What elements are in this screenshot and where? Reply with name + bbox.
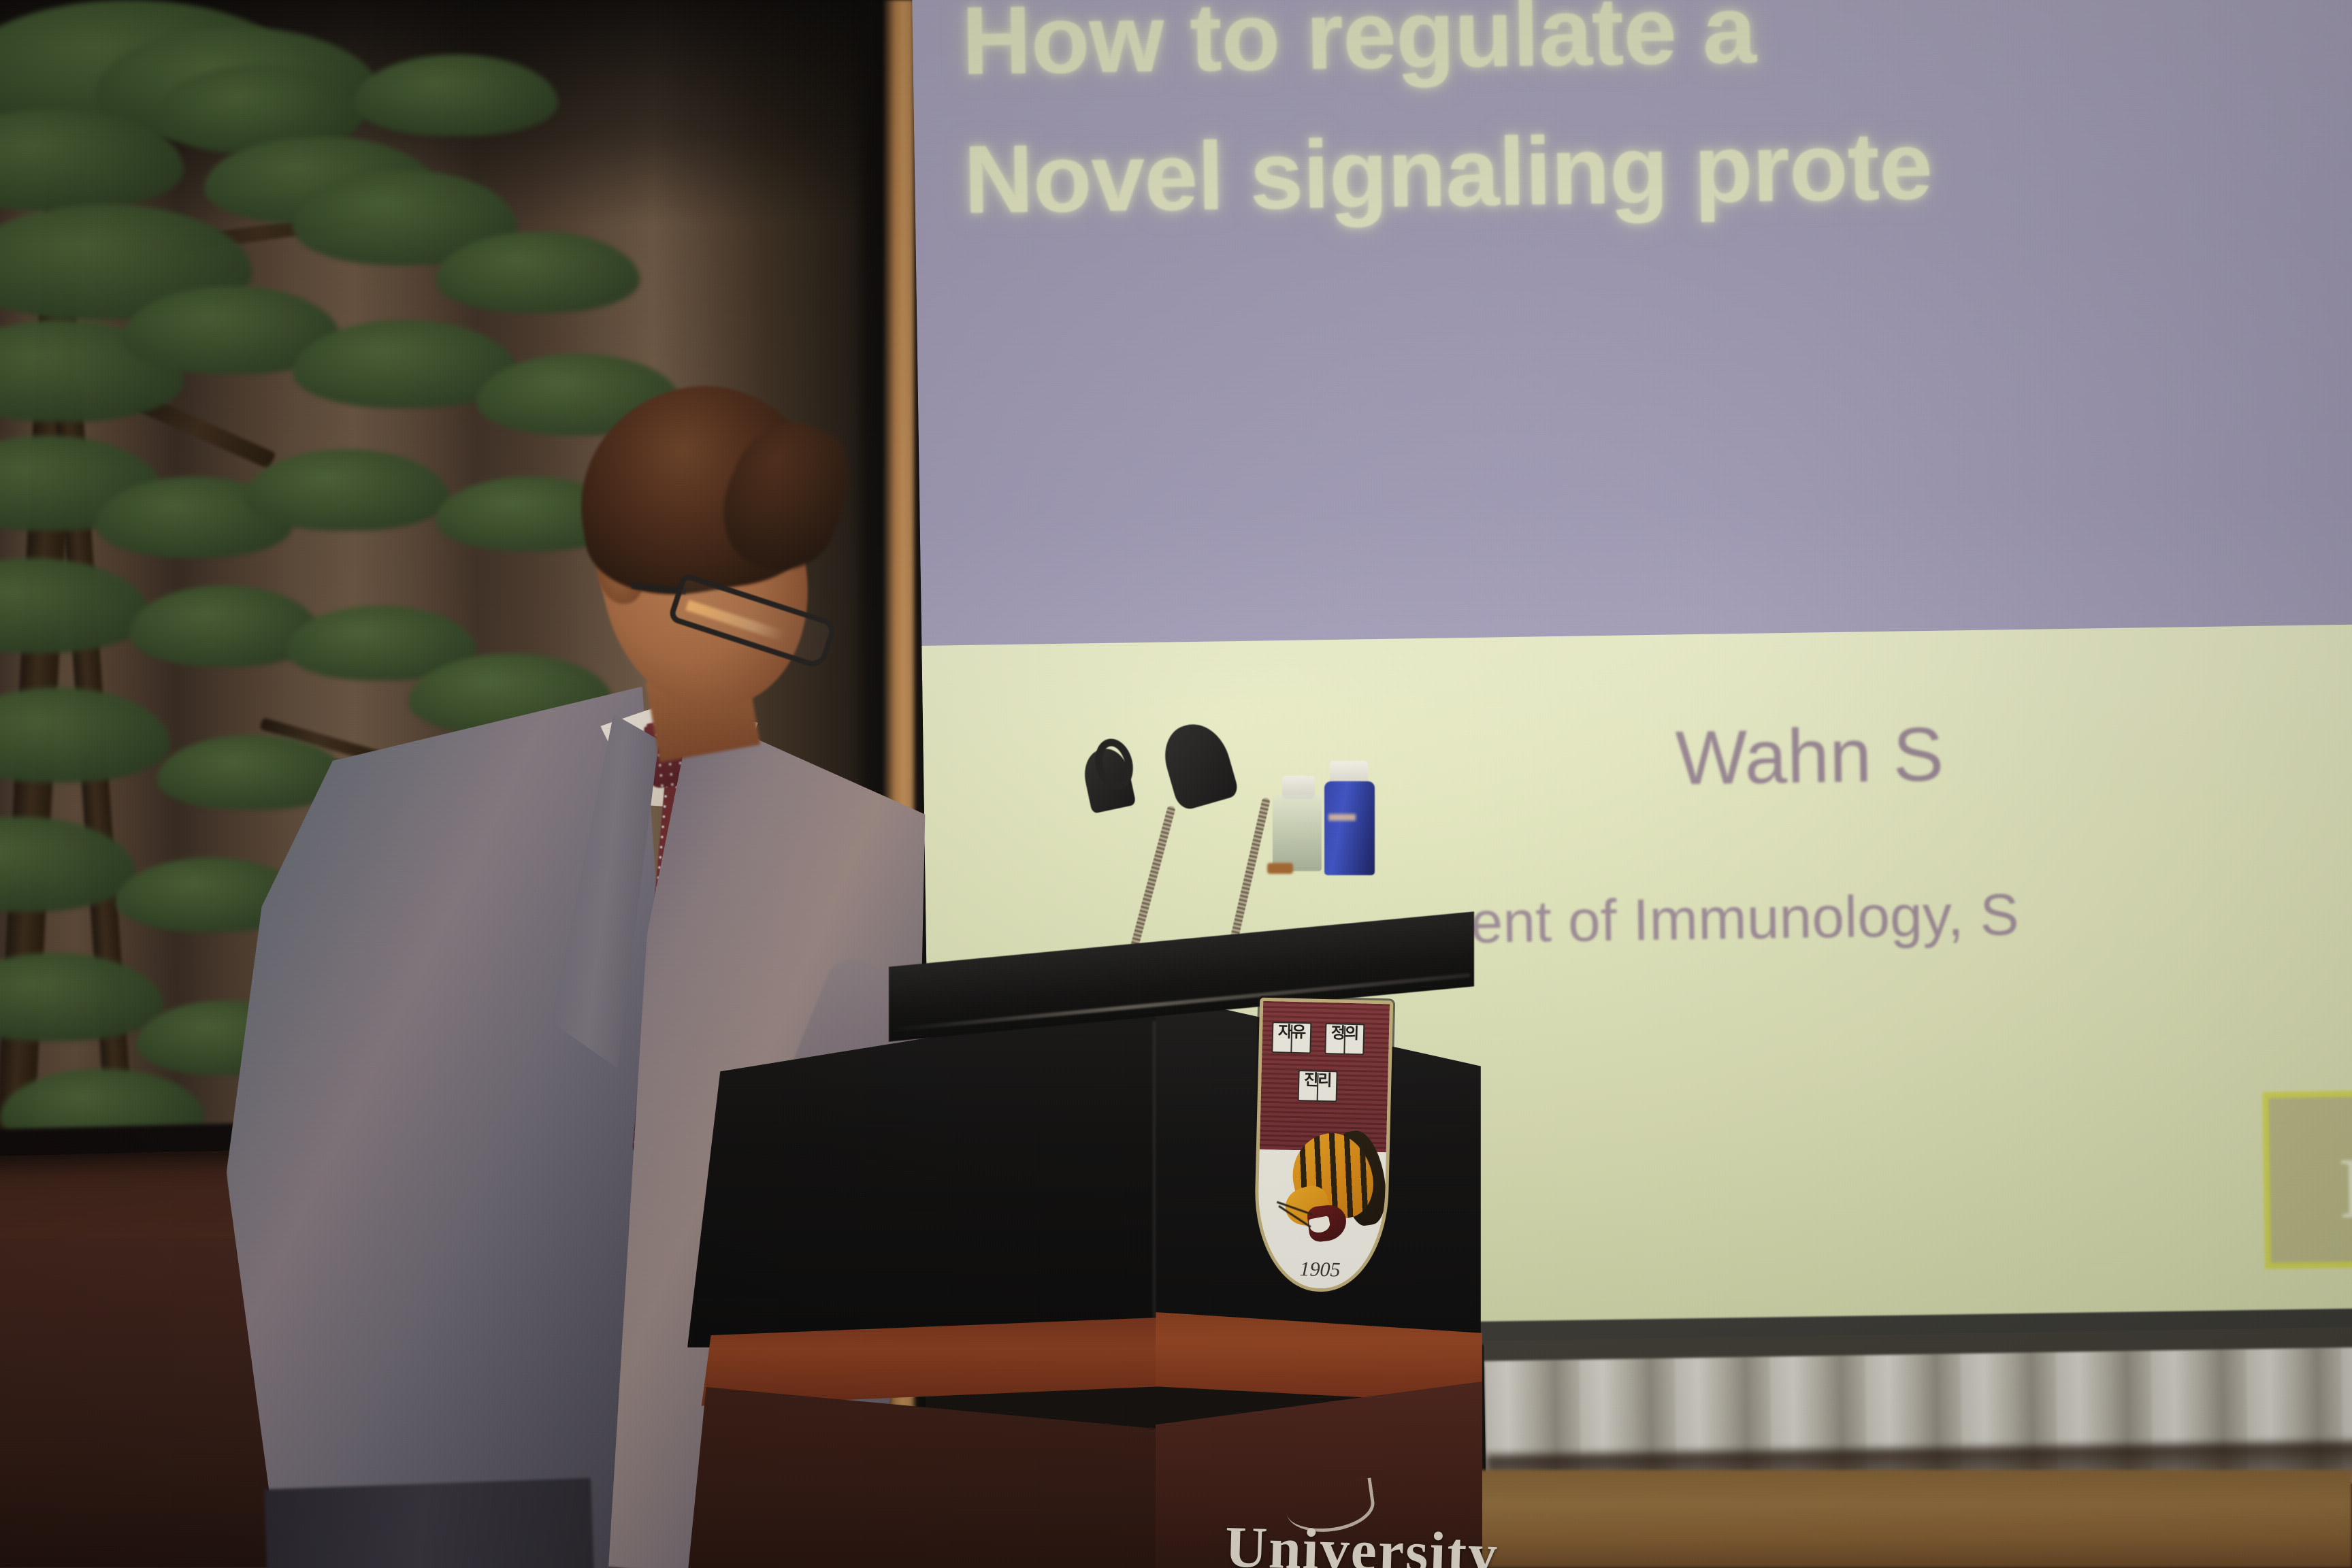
water-bottle-blue bbox=[1324, 781, 1375, 875]
slide-title-line-1: How to regulate a bbox=[961, 0, 1757, 97]
crest-motto-word-2: 정의 bbox=[1326, 1025, 1364, 1042]
trousers bbox=[264, 1478, 607, 1568]
crest-shield: 자유 정의 진리 1905 bbox=[1253, 998, 1393, 1294]
slide-speaker-name: Wahn S bbox=[1675, 710, 1944, 802]
lectern-center-seam bbox=[1153, 1021, 1156, 1361]
crest-motto-word-3: 진리 bbox=[1299, 1072, 1337, 1089]
lectern-base-left bbox=[687, 1387, 1158, 1568]
slide-logo-letter: F bbox=[2339, 1138, 2352, 1239]
pine-foliage-pad bbox=[245, 449, 449, 531]
university-crest: 자유 정의 진리 1905 bbox=[1253, 998, 1393, 1294]
crest-tiger-icon bbox=[1280, 1128, 1378, 1253]
crest-book-icon-truth: 진리 bbox=[1298, 1070, 1338, 1102]
desk-object bbox=[1267, 863, 1293, 874]
bottle-highlight bbox=[1328, 814, 1356, 821]
water-bottle-clear bbox=[1273, 795, 1322, 871]
slide-upper-band bbox=[912, 0, 2352, 647]
lectern: University 자유 정의 진리 bbox=[687, 946, 1640, 1568]
pine-foliage-pad bbox=[0, 687, 170, 783]
pine-foliage-pad bbox=[0, 953, 163, 1041]
crest-motto-word-1: 자유 bbox=[1273, 1024, 1311, 1041]
crest-book-icon-freedom: 자유 bbox=[1271, 1022, 1311, 1053]
crest-book-icon-justice: 정의 bbox=[1324, 1023, 1365, 1055]
lecture-photograph: How to regulate a Novel signaling prote … bbox=[0, 0, 2352, 1568]
pine-foliage-pad bbox=[354, 54, 558, 136]
slide-logo-box bbox=[2262, 1090, 2352, 1269]
lectern-front-left-facet bbox=[687, 994, 1157, 1347]
slide-title-line-2: Novel signaling prote bbox=[963, 110, 1933, 236]
crest-founding-year: 1905 bbox=[1256, 1257, 1384, 1284]
lectern-university-label: University bbox=[1224, 1512, 1500, 1568]
pine-foliage-pad bbox=[0, 558, 150, 653]
